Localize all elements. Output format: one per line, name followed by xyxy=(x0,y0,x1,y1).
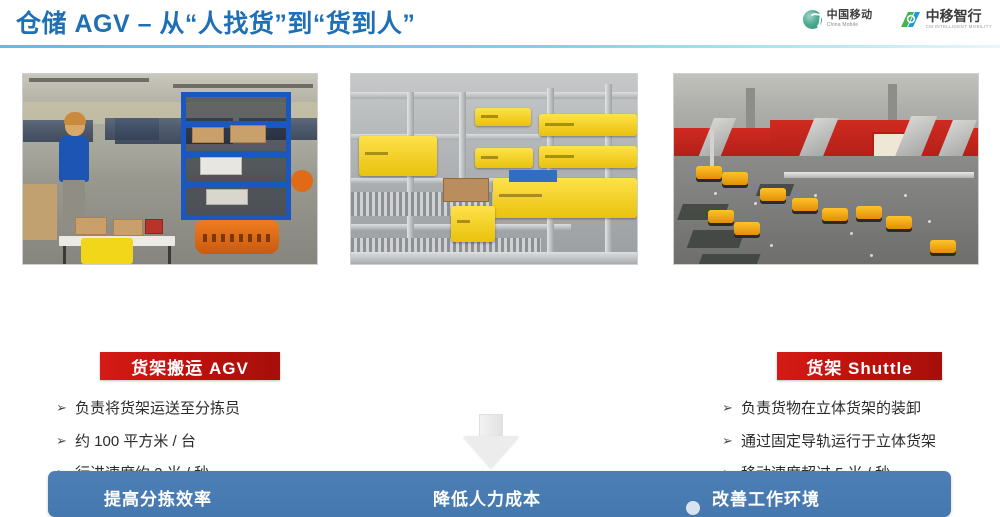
china-mobile-logo-cn: 中国移动 xyxy=(827,10,873,21)
column-shelf-shuttle: 货架 Shuttle ➢ 负责货物在立体货架的装卸 ➢ 通过固定导轨运行于立体货… xyxy=(350,73,638,265)
arrow-bullet-icon: ➢ xyxy=(722,433,741,450)
china-mobile-logo-en: China Mobile xyxy=(827,23,873,28)
benefit-item-1: 提高分拣效率 xyxy=(104,485,212,510)
china-mobile-mark-icon xyxy=(803,10,822,29)
header-divider xyxy=(0,45,1000,48)
list-item-text: 约 100 平方米 / 台 xyxy=(75,433,356,451)
down-arrow-icon xyxy=(463,414,519,468)
column-parcel-sorting-agv: 包裹分拣 AGV ➢ 负责将货物运送至指定投 递窗口及投递 ➢ 1000 平米最… xyxy=(673,73,979,265)
cmit-logo-en: CM INTELLIGENT MOBILITY xyxy=(926,25,992,30)
list-item: ➢ 通过固定导轨运行于立体货架 xyxy=(722,433,1000,451)
list-item-text: 负责货物在立体货架的装卸 xyxy=(741,400,1000,418)
china-mobile-logo: 中国移动 China Mobile xyxy=(803,10,873,29)
arrow-bullet-icon: ➢ xyxy=(56,400,75,417)
photo-shelf-shuttle xyxy=(350,73,638,265)
arrow-bullet-icon: ➢ xyxy=(56,433,75,450)
benefits-bar: 提高分拣效率 降低人力成本 改善工作环境 xyxy=(48,471,951,517)
arrow-bullet-icon: ➢ xyxy=(722,400,741,417)
slide-header: 仓储 AGV – 从“人找货”到“货到人” 中国移动 China Mobile xyxy=(0,0,1000,47)
cmit-mark-icon xyxy=(899,10,921,29)
banner-shelf-shuttle: 货架 Shuttle xyxy=(777,352,942,380)
cmit-logo-cn: 中移智行 xyxy=(926,9,992,23)
photo-parcel-sorting-agv xyxy=(673,73,979,265)
slide: 仓储 AGV – 从“人找货”到“货到人” 中国移动 China Mobile xyxy=(0,0,1000,506)
list-item-text: 通过固定导轨运行于立体货架 xyxy=(741,433,1000,451)
photo-shelf-transport-agv xyxy=(22,73,318,265)
list-item: ➢ 负责货物在立体货架的装卸 xyxy=(722,400,1000,418)
benefit-item-2: 降低人力成本 xyxy=(433,485,541,510)
list-item: ➢ 约 100 平方米 / 台 xyxy=(56,433,356,451)
benefit-bullet-dot-icon xyxy=(686,501,700,515)
logo-group: 中国移动 China Mobile 中移智行 CM INTELLIGENT MO… xyxy=(803,9,992,30)
page-title: 仓储 AGV – 从“人找货”到“货到人” xyxy=(16,4,415,40)
banner-shelf-transport-agv: 货架搬运 AGV xyxy=(100,352,280,380)
cmit-logo: 中移智行 CM INTELLIGENT MOBILITY xyxy=(899,9,992,30)
column-shelf-transport-agv: 货架搬运 AGV ➢ 负责将货架运送至分拣员 ➢ 约 100 平方米 / 台 ➢… xyxy=(22,73,318,265)
benefit-item-3: 改善工作环境 xyxy=(712,485,820,510)
list-item-text: 负责将货架运送至分拣员 xyxy=(75,400,356,418)
list-item: ➢ 负责将货架运送至分拣员 xyxy=(56,400,356,418)
